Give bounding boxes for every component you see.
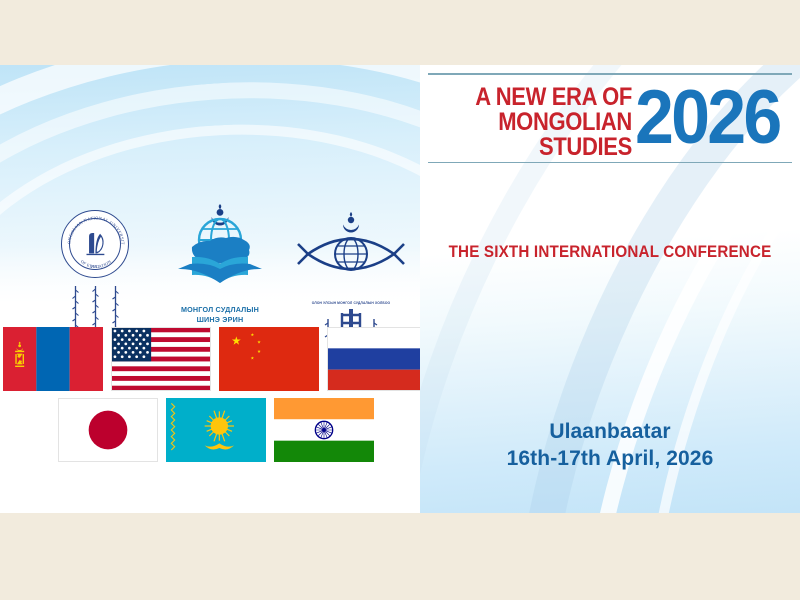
university-seal-icon: MONGOLIAN NATIONAL UNIVERSITY OF EDUCATI… [61, 210, 129, 278]
flag-china [219, 327, 319, 391]
venue-city: Ulaanbaatar [420, 419, 800, 445]
flag-mongolia [3, 327, 103, 391]
conference-year: 2026 [635, 81, 780, 155]
flag-row-2 [58, 398, 420, 462]
logo-caption: МОНГОЛ СУДЛАЛЫН ШИНЭ ЭРИН [160, 305, 280, 324]
logo-mongol-sudlalyn-shine-erin: МОНГОЛ СУДЛАЛЫН ШИНЭ ЭРИН [160, 202, 280, 324]
logo-caption-line1: МОНГОЛ СУДЛАЛЫН [160, 305, 280, 315]
headline-line-1: A NEW ERA OF [452, 85, 631, 110]
flag-united-states [111, 327, 211, 391]
conference-subtitle: THE SIXTH INTERNATIONAL CONFERENCE [435, 243, 785, 262]
seal-year: 1951 [62, 264, 128, 269]
logo-mongolian-national-university-of-education: MONGOLIAN NATIONAL UNIVERSITY OF EDUCATI… [32, 210, 158, 346]
flag-russia [327, 327, 420, 391]
flag-india [274, 398, 374, 462]
venue-dates: 16th-17th April, 2026 [420, 445, 800, 473]
headline-text: A NEW ERA OF MONGOLIAN STUDIES [428, 81, 635, 160]
poster-right-panel: A NEW ERA OF MONGOLIAN STUDIES 2026 THE … [420, 65, 800, 513]
logo-caption-line2: ШИНЭ ЭРИН [160, 315, 280, 325]
flag-kazakhstan [166, 398, 266, 462]
soyombo-icon [343, 212, 359, 233]
seal-flame-icon [78, 227, 112, 261]
poster-title-block: A NEW ERA OF MONGOLIAN STUDIES 2026 [428, 73, 792, 163]
flag-japan [58, 398, 158, 462]
title-rule-bottom [428, 162, 792, 164]
headline-line-2: MONGOLIAN [452, 110, 631, 135]
logo-caption: ОЛОН УЛСЫН МОНГОЛ СУДЛАЛЫН ХОЛБОО [288, 301, 414, 305]
headline-line-3: STUDIES [452, 135, 631, 160]
globe-map-book-icon [166, 202, 274, 298]
conference-poster: MONGOLIAN NATIONAL UNIVERSITY OF EDUCATI… [0, 65, 800, 513]
participating-country-flags [0, 327, 420, 462]
eye-emblem-icon [296, 208, 406, 300]
venue-info: Ulaanbaatar 16th-17th April, 2026 [420, 419, 800, 473]
flag-row-1 [3, 327, 420, 391]
poster-left-panel: MONGOLIAN NATIONAL UNIVERSITY OF EDUCATI… [0, 65, 420, 513]
headline: A NEW ERA OF MONGOLIAN STUDIES 2026 [428, 75, 792, 162]
